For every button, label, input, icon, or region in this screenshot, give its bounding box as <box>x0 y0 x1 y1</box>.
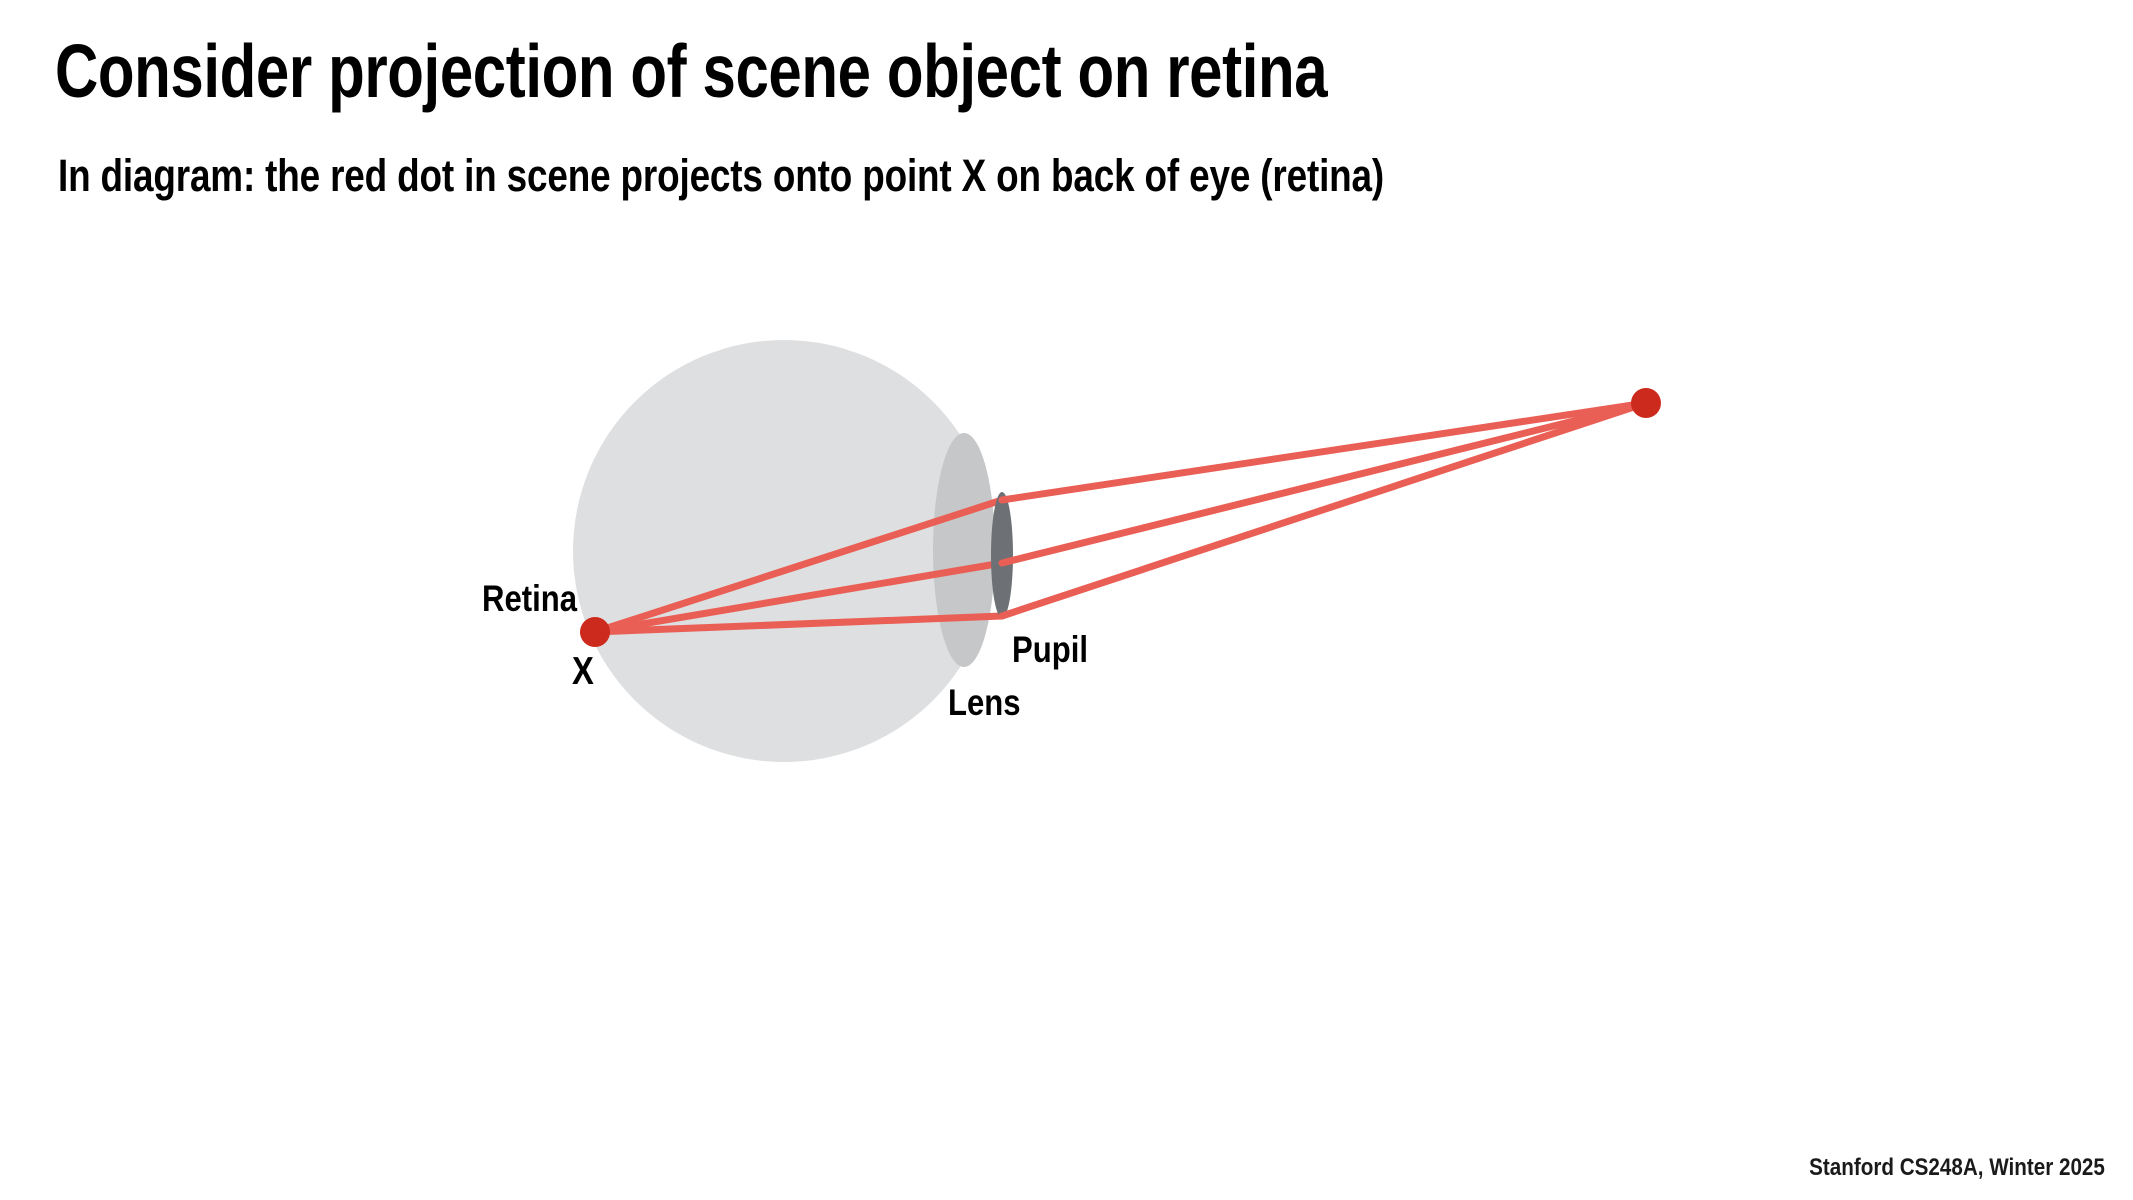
slide-footer: Stanford CS248A, Winter 2025 <box>1809 1154 2105 1182</box>
ray-bottom-outer <box>1002 403 1646 616</box>
retina-label: Retina <box>482 578 577 620</box>
pupil-shape <box>991 492 1013 618</box>
eye-projection-diagram <box>0 0 2133 1200</box>
eyeball-shape <box>573 340 995 762</box>
ray-bundle-outer <box>1002 403 1646 616</box>
pupil-label: Pupil <box>1012 629 1088 671</box>
lens-label: Lens <box>948 682 1021 724</box>
retina-point-label: X <box>572 650 594 694</box>
retina-point-dot <box>580 617 610 647</box>
lens-shape <box>933 433 995 667</box>
scene-point-dot <box>1631 388 1661 418</box>
slide-canvas: Consider projection of scene object on r… <box>0 0 2133 1200</box>
